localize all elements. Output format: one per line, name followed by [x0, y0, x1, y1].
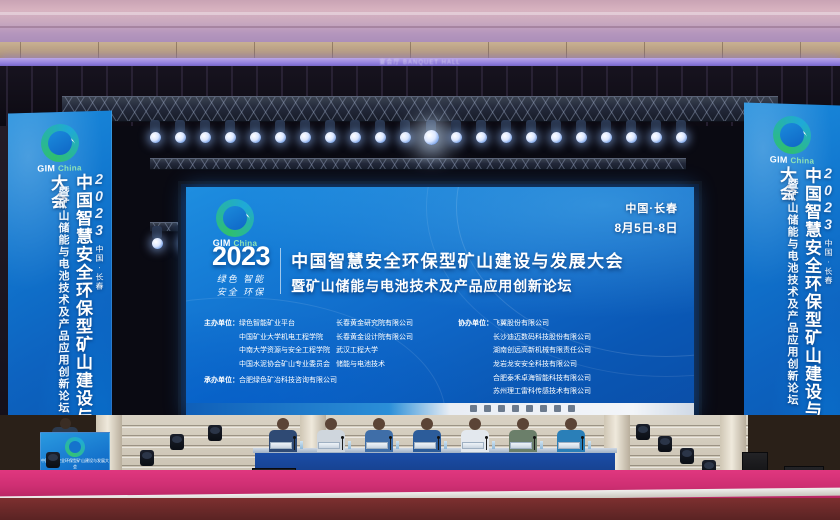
ceiling-ridge-secondary [0, 26, 840, 28]
taskbar-icon[interactable] [484, 405, 491, 412]
stage-lamp [551, 132, 562, 143]
water-bottle [300, 441, 303, 449]
water-bottle [348, 441, 351, 449]
organizer-name: 湖南创远高新机械有限责任公司 [493, 344, 591, 358]
truss-diagonal [674, 159, 686, 169]
front-floor [0, 498, 840, 520]
moving-head-light [658, 436, 672, 452]
taskbar-icon[interactable] [498, 405, 505, 412]
table-microphone [582, 438, 583, 450]
stage-lamp [400, 132, 411, 143]
stage-lamp [375, 132, 386, 143]
panelist-head [565, 418, 577, 430]
slogan-line-1: 绿色 智能 [212, 273, 270, 286]
led-screen[interactable]: GIM China 中国·长春 8月5日-8日 2023 绿色 智能 安全 环保… [186, 187, 694, 415]
truss-middle [150, 158, 686, 170]
desktop-taskbar[interactable] [186, 403, 694, 415]
event-dates: 8月5日-8日 [614, 219, 678, 236]
event-slogan: 绿色 智能 安全 环保 [212, 273, 270, 299]
cornice-seam [254, 42, 255, 58]
table-nameplate [270, 442, 292, 449]
water-bottle [540, 441, 543, 449]
water-bottle [588, 441, 591, 449]
table-nameplate [318, 442, 340, 449]
undertaker-name: 合肥绿色矿冶科技咨询有限公司 [239, 375, 337, 385]
organizer-name: 长沙迪迈数码科技股份有限公司 [493, 331, 591, 345]
undertaker-label: 承办单位： [204, 375, 239, 385]
organizer-block: 主办单位： 绿色智能矿业平台中国矿业大学机电工程学院中南大学资源与安全工程学院中… [204, 317, 684, 399]
cornice-seam [20, 42, 21, 58]
taskbar-icon[interactable] [512, 405, 519, 412]
stage-lamp [300, 132, 311, 143]
truss-top [62, 96, 778, 122]
organizer-name: 储能与电池技术 [336, 358, 413, 372]
organizer-name: 长春黄金研究院有限公司 [336, 317, 413, 331]
organizer-name: 武汉工程大学 [336, 344, 413, 358]
stage-lamp [250, 132, 261, 143]
cornice-seam [488, 42, 489, 58]
organizer-name: 中国矿业大学机电工程学院 [239, 331, 330, 345]
truss-diagonal [150, 159, 151, 169]
coorg-label: 协办单位： [458, 317, 493, 399]
stage-lamp [501, 132, 512, 143]
event-year: 2023 [212, 243, 270, 270]
left-banner-title-sub: 暨矿山储能与电池技术及产品应用创新论坛 [55, 186, 71, 414]
stage-lamp [225, 132, 236, 143]
right-banner-city: 中国·长春 [823, 239, 834, 285]
gim-swoosh-icon [224, 208, 250, 225]
coorg-list: 飞翼股份有限公司长沙迪迈数码科技股份有限公司湖南创远高新机械有限责任公司龙岩龙安… [493, 317, 591, 399]
table-microphone [294, 438, 295, 450]
gim-logo-icon [41, 123, 79, 162]
table-microphone [534, 438, 535, 450]
ceiling [0, 0, 840, 46]
ceiling-ridge [0, 12, 840, 15]
truss-lattice [62, 97, 778, 121]
event-title-block: 2023 绿色 智能 安全 环保 中国智慧安全环保型矿山建设与发展大会 暨矿山储… [212, 243, 680, 299]
taskbar-icon[interactable] [540, 405, 547, 412]
taskbar-icon[interactable] [554, 405, 561, 412]
host-label: 主办单位： [204, 317, 239, 399]
taskbar-icon[interactable] [526, 405, 533, 412]
truss-lattice [150, 159, 686, 169]
left-banner-year: 2023 [91, 171, 107, 239]
table-microphone [438, 438, 439, 450]
cornice-seam [332, 42, 333, 58]
panelist-head [517, 418, 529, 430]
event-title-text: 中国智慧安全环保型矿山建设与发展大会 暨矿山储能与电池技术及产品应用创新论坛 [291, 247, 624, 296]
gim-logo-icon [773, 115, 811, 154]
stage-lamp [626, 132, 637, 143]
table-nameplate [366, 442, 388, 449]
right-banner-title-sub: 暨矿山储能与电池技术及产品应用创新论坛 [784, 178, 800, 407]
cornice-seam [644, 42, 645, 58]
moving-head-light [140, 450, 154, 466]
water-bottle [492, 441, 495, 449]
cornice-seam [722, 42, 723, 58]
moving-head-light [46, 452, 60, 468]
panelist-head [469, 418, 481, 430]
stage-lamp [651, 132, 662, 143]
right-banner-year: 2023 [820, 165, 836, 234]
table-nameplate [558, 442, 580, 449]
stage-lamp [576, 132, 587, 143]
event-year-block: 2023 绿色 智能 安全 环保 [212, 243, 270, 299]
stage-lamp [150, 132, 161, 143]
cornice-seam [800, 42, 801, 58]
event-city: 中国·长春 [614, 200, 678, 216]
speaker-head [60, 418, 71, 429]
moving-head-light [680, 448, 694, 464]
taskbar-icon[interactable] [470, 405, 477, 412]
organizer-name: 飞翼股份有限公司 [493, 317, 591, 331]
table-nameplate [462, 442, 484, 449]
moving-head-light [170, 434, 184, 450]
table-nameplate [414, 442, 436, 449]
slogan-line-2: 安全 环保 [212, 286, 270, 299]
taskbar-icon[interactable] [568, 405, 575, 412]
organizer-name: 绿色智能矿业平台 [239, 317, 330, 331]
stage-lamp [152, 238, 163, 249]
organizer-name: 中南大学资源与安全工程学院 [239, 344, 330, 358]
stage-lamp [424, 130, 439, 145]
truss-diagonal [150, 159, 163, 169]
cornice-seam [98, 42, 99, 58]
table-microphone [342, 438, 343, 450]
moving-head-light [636, 424, 650, 440]
panelist-head [277, 418, 289, 430]
panelist-head [325, 418, 337, 430]
organizer-name: 苏州理工雷科传感技术有限公司 [493, 385, 591, 399]
organizer-name: 长春黄金设计院有限公司 [336, 331, 413, 345]
panelist-head [373, 418, 385, 430]
co-organizers: 协办单位： 飞翼股份有限公司长沙迪迈数码科技股份有限公司湖南创远高新机械有限责任… [458, 317, 591, 399]
host-organizers-col1: 主办单位： 绿色智能矿业平台中国矿业大学机电工程学院中南大学资源与安全工程学院中… [204, 317, 324, 399]
stage-lamp [175, 132, 186, 143]
taskbar-icons[interactable] [470, 405, 575, 412]
cornice-seam [566, 42, 567, 58]
stage-lamp [676, 132, 687, 143]
gim-swoosh-icon [48, 133, 74, 151]
cornice-seam [410, 42, 411, 58]
water-bottle [444, 441, 447, 449]
table-microphone [486, 438, 487, 450]
title-divider [280, 248, 281, 294]
stage-lamp [350, 132, 361, 143]
table-nameplate [510, 442, 532, 449]
stage-lamp [601, 132, 612, 143]
stage-light-row-top [150, 122, 690, 152]
stage-lamp [275, 132, 286, 143]
event-title-main: 中国智慧安全环保型矿山建设与发展大会 [291, 247, 624, 272]
left-banner-city: 中国·长春 [94, 245, 105, 291]
table-microphone [390, 438, 391, 450]
host-list-2: 长春黄金研究院有限公司长春黄金设计院有限公司武汉工程大学储能与电池技术 [336, 317, 413, 399]
event-title-sub: 暨矿山储能与电池技术及产品应用创新论坛 [291, 276, 624, 296]
stage-lamp [200, 132, 211, 143]
undertaker-block: 承办单位： 合肥绿色矿冶科技咨询有限公司 [204, 375, 337, 385]
organizer-name: 龙岩龙安安全科技有限公司 [493, 358, 591, 372]
gim-swoosh-icon [781, 126, 807, 143]
cornice-seams [0, 42, 840, 58]
organizer-name: 中国水泥协会矿山专业委员会 [239, 358, 330, 372]
stage-lamp [526, 132, 537, 143]
stage-lamp [451, 132, 462, 143]
stage-lamp [325, 132, 336, 143]
podium-logo-icon [65, 437, 85, 457]
moving-head-light [208, 425, 222, 441]
stage-lamp [476, 132, 487, 143]
cornice-seam [176, 42, 177, 58]
banner-logo-left: GIM China [33, 123, 87, 174]
host-list-1: 绿色智能矿业平台中国矿业大学机电工程学院中南大学资源与安全工程学院中国水泥协会矿… [239, 317, 330, 399]
organizer-name: 合肥泰禾卓海智能科技有限公司 [493, 372, 591, 386]
banner-logo-right: GIM China [765, 115, 819, 166]
gim-logo-icon [216, 199, 254, 237]
host-organizers-col2: 长春黄金研究院有限公司长春黄金设计院有限公司武汉工程大学储能与电池技术 [336, 317, 440, 399]
conference-stage-scene: 宴会厅 BANQUET HALL GIM China 中国智慧安全环保型矿山建设… [0, 0, 840, 520]
truss-diagonal [150, 223, 151, 231]
water-bottle [396, 441, 399, 449]
event-location-block: 中国·长春 8月5日-8日 [614, 200, 678, 236]
panelist-head [421, 418, 433, 430]
